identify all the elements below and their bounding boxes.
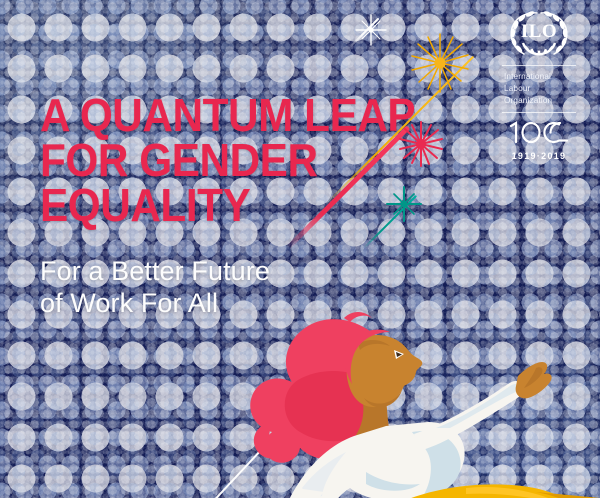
centenary-years: 1919·2019: [498, 151, 580, 161]
teal-star-burst: [385, 185, 423, 223]
org-line-3: Organization: [504, 95, 580, 107]
white-star-burst: [353, 12, 389, 48]
headline-line-2: For Gender: [40, 138, 362, 183]
centenary-logo: 1919·2019: [498, 119, 580, 161]
logo-divider-top: [502, 65, 576, 66]
svg-text:ILO: ILO: [521, 21, 557, 42]
org-line-2: Labour: [504, 83, 580, 95]
centenary-100-icon: [503, 119, 575, 145]
headline-line-3: Equality: [40, 183, 362, 228]
poster-canvas: A Quantum Leap For Gender Equality For a…: [0, 0, 600, 498]
outstretched-arm: [414, 362, 552, 450]
org-line-1: International: [504, 71, 580, 83]
logo-divider-bottom: [502, 112, 576, 113]
poster-headline: A Quantum Leap For Gender Equality: [40, 93, 362, 228]
ilo-emblem-icon: ILO: [506, 8, 572, 60]
yellow-star-burst: [409, 32, 471, 94]
woman-leaping-illustration: [236, 292, 600, 498]
headline-line-1: A Quantum Leap: [40, 93, 362, 138]
organization-name: International Labour Organization: [498, 71, 580, 107]
subtitle-line-1: For a Better Future: [40, 256, 370, 288]
ilo-logo-block: ILO International Labour Organization 19…: [498, 8, 580, 161]
